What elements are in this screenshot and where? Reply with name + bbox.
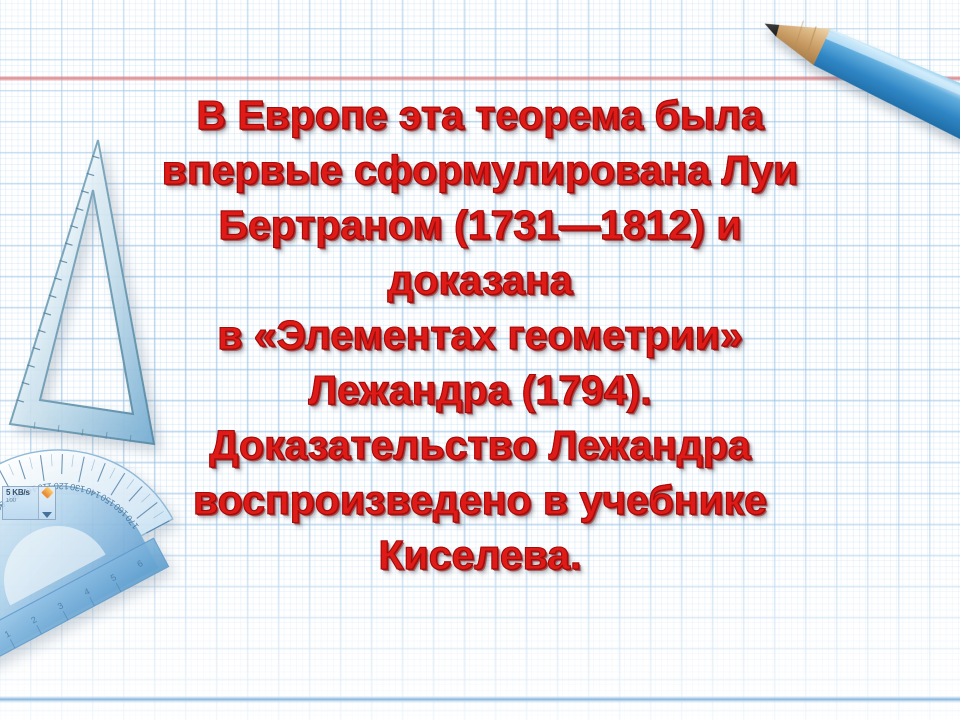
protractor-icon: 10 20 30 40 50 60 70 80 90 100 110 120 1… (0, 420, 208, 710)
speed-rate-label: 5 KB/s (6, 489, 36, 497)
network-speed-widget[interactable]: 5 KB/s 100 (2, 486, 56, 520)
speed-widget-readout: 5 KB/s 100 (3, 487, 38, 519)
speed-widget-controls[interactable] (38, 487, 55, 519)
triangle-ruler-icon (0, 126, 179, 461)
speed-sub-label: 100 (6, 498, 36, 504)
presentation-slide: 10 20 30 40 50 60 70 80 90 100 110 120 1… (0, 0, 960, 720)
gem-icon (41, 486, 54, 499)
chevron-down-icon[interactable] (42, 512, 52, 518)
